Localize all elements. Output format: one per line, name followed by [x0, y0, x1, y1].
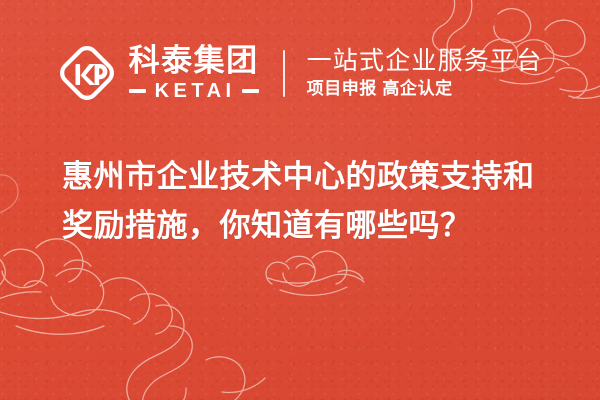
headline-line-2: 奖励措施，你知道有哪些吗？ [62, 201, 560, 250]
brand-wordmark: 科泰集团 KETAI [129, 45, 259, 101]
tagline-block: 一站式企业服务平台 项目申报 高企认定 [307, 49, 543, 97]
promotional-banner: 科泰集团 KETAI 一站式企业服务平台 项目申报 高企认定 惠州市企业技术中心… [0, 0, 600, 400]
banner-header: 科泰集团 KETAI 一站式企业服务平台 项目申报 高企认定 [0, 30, 600, 116]
headline-line-1: 惠州市企业技术中心的政策支持和 [62, 152, 560, 201]
wordmark-rule-left [129, 89, 146, 93]
tagline-primary: 一站式企业服务平台 [307, 49, 543, 74]
headline: 惠州市企业技术中心的政策支持和 奖励措施，你知道有哪些吗？ [62, 152, 560, 250]
brand-name-en-row: KETAI [129, 81, 259, 101]
brand-name-en: KETAI [152, 81, 236, 101]
tagline-secondary: 项目申报 高企认定 [307, 80, 543, 97]
brand-name-cn: 科泰集团 [129, 45, 259, 77]
ketai-logo-icon[interactable] [58, 44, 116, 102]
header-divider [283, 50, 285, 97]
brand-lockup[interactable]: 科泰集团 KETAI [58, 44, 259, 102]
wordmark-rule-right [242, 89, 259, 93]
